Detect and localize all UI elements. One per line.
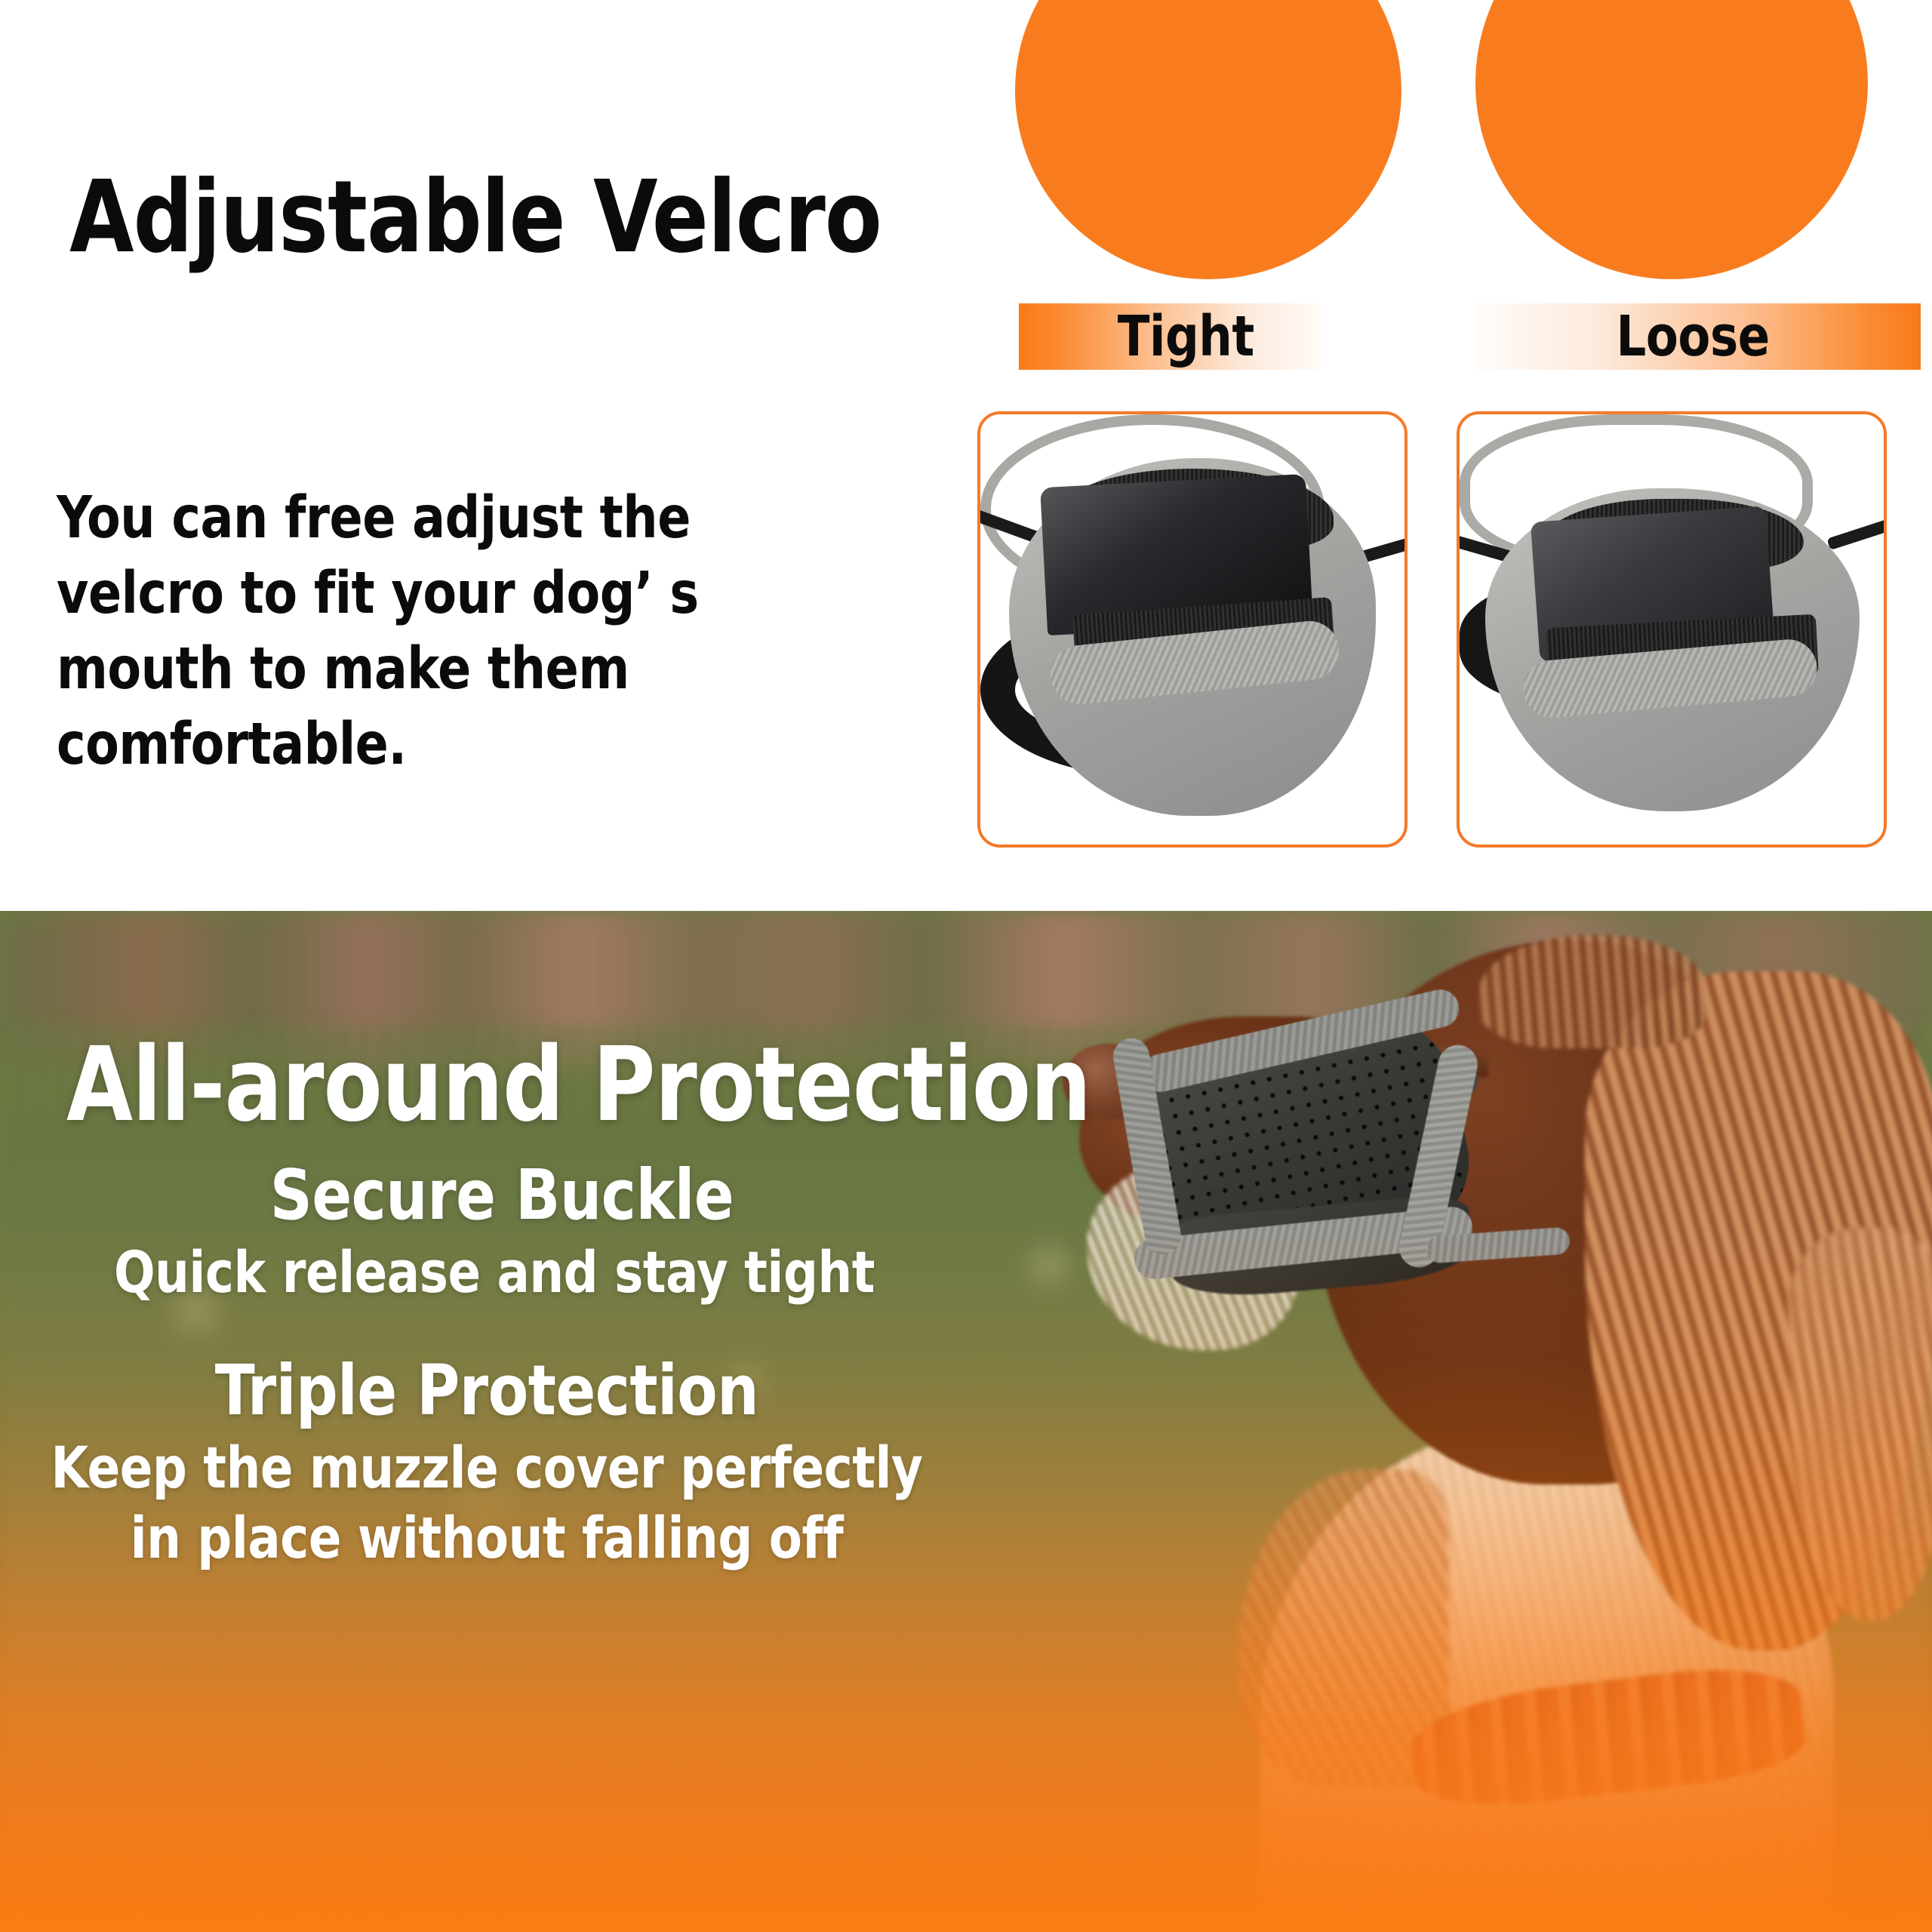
label-tight: Tight: [1118, 304, 1254, 369]
section-heading: Adjustable Velcro: [69, 168, 881, 267]
muzzle-image-loose: [1460, 414, 1884, 844]
muzzle-strap-right-icon: [1826, 511, 1884, 550]
photo-text-overlay: All-around Protection Secure Buckle Quic…: [0, 911, 1932, 1932]
feature-title-triple-protection: Triple Protection: [57, 1350, 915, 1431]
product-photo-loose: [1457, 411, 1887, 848]
orange-ellipse-loose: [1475, 0, 1868, 279]
label-bar-tight: Tight: [1019, 303, 1321, 370]
photo-headline: All-around Protection: [66, 1026, 1091, 1145]
label-loose: Loose: [1616, 304, 1769, 369]
adjustable-velcro-section: Adjustable Velcro You can free adjust th…: [0, 0, 1932, 911]
all-around-protection-section: All-around Protection Secure Buckle Quic…: [0, 911, 1932, 1932]
orange-ellipse-tight: [1015, 0, 1401, 279]
feature-desc-triple-protection: Keep the muzzle cover perfectly in place…: [44, 1433, 931, 1573]
muzzle-image-tight: [980, 414, 1404, 844]
product-photo-tight: [977, 411, 1407, 848]
product-infographic: Adjustable Velcro You can free adjust th…: [0, 0, 1932, 1932]
section-body-text: You can free adjust the velcro to fit yo…: [57, 481, 851, 783]
feature-title-secure-buckle: Secure Buckle: [72, 1155, 931, 1235]
feature-desc-secure-buckle: Quick release and stay tight: [51, 1238, 938, 1308]
label-bar-loose: Loose: [1475, 303, 1921, 370]
